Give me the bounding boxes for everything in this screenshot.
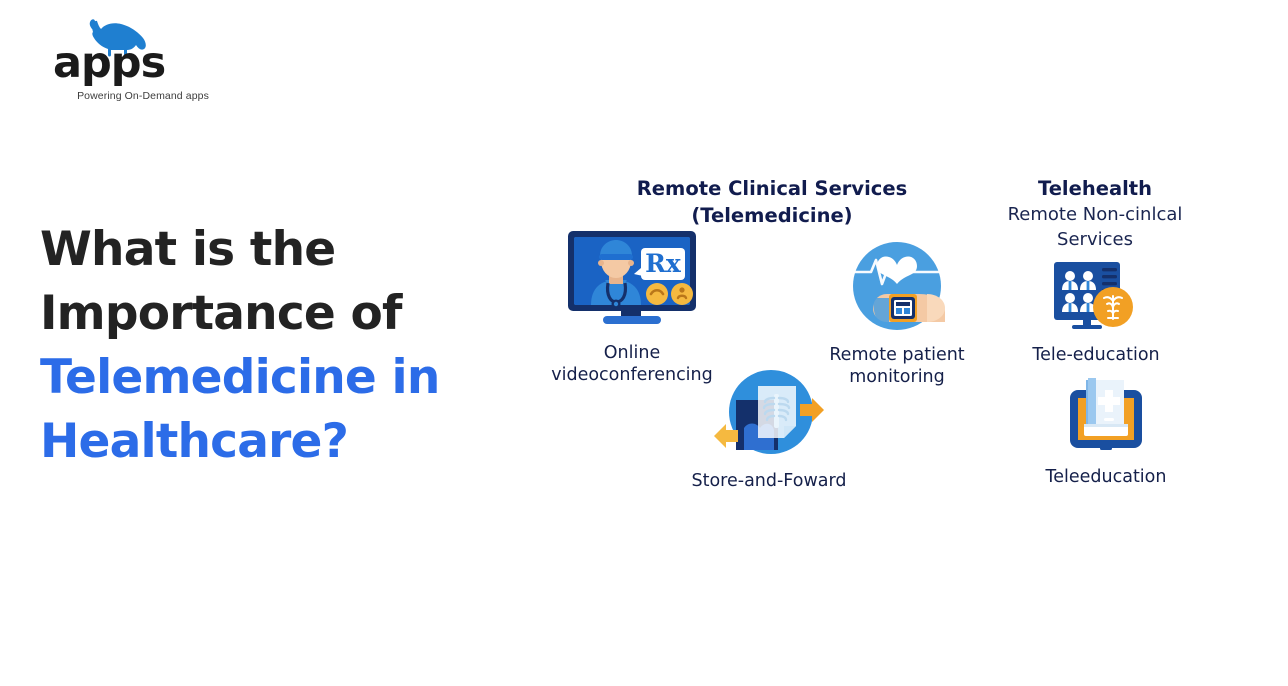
item-online-videoconferencing[interactable]: Rx Online videoconferencing bbox=[536, 228, 728, 387]
tablet-medical-book-icon bbox=[1026, 374, 1186, 461]
video-grid-caduceus-icon bbox=[1016, 256, 1176, 339]
column-heading-remote-clinical-services: Remote Clinical Services (Telemedicine) bbox=[612, 175, 932, 230]
item-remote-patient-monitoring[interactable]: Remote patient monitoring bbox=[818, 238, 976, 389]
page-title: What is the Importance of Telemedicine i… bbox=[40, 218, 510, 474]
headline-line-2: Importance of bbox=[40, 282, 510, 346]
item-tele-education[interactable]: Tele-education bbox=[1016, 256, 1176, 367]
headline-line-1: What is the bbox=[40, 218, 510, 282]
headline-line-3: Telemedicine in bbox=[40, 346, 510, 410]
slide-canvas: apps Powering On-Demand apps What is the… bbox=[0, 0, 1288, 686]
item-caption: Teleeducation bbox=[1026, 467, 1186, 489]
brand-wordmark: apps bbox=[53, 42, 165, 85]
svg-text:Rx: Rx bbox=[645, 249, 682, 278]
monitor-doctor-videocall-icon: Rx bbox=[536, 228, 728, 337]
headline-line-4: Healthcare? bbox=[40, 410, 510, 474]
column-subtitle: (Telemedicine) bbox=[612, 202, 932, 229]
smartwatch-heartbeat-icon bbox=[818, 238, 976, 339]
brand-tagline: Powering On-Demand apps bbox=[58, 90, 228, 102]
column-title: Telehealth bbox=[985, 175, 1205, 202]
item-caption: Store-and-Foward bbox=[688, 471, 850, 493]
column-title: Remote Clinical Services bbox=[612, 175, 932, 202]
brand-logo[interactable]: apps Powering On-Demand apps bbox=[26, 14, 226, 94]
column-heading-telehealth: Telehealth Remote Non-cinlcal Services bbox=[985, 175, 1205, 253]
xray-transfer-arrows-icon bbox=[688, 368, 850, 465]
column-subtitle-line-2: Services bbox=[985, 227, 1205, 252]
item-store-and-forward[interactable]: Store-and-Foward bbox=[688, 368, 850, 493]
item-teleeducation[interactable]: Teleeducation bbox=[1026, 374, 1186, 489]
item-caption: Tele-education bbox=[1016, 345, 1176, 367]
column-subtitle-line-1: Remote Non-cinlcal bbox=[985, 202, 1205, 227]
